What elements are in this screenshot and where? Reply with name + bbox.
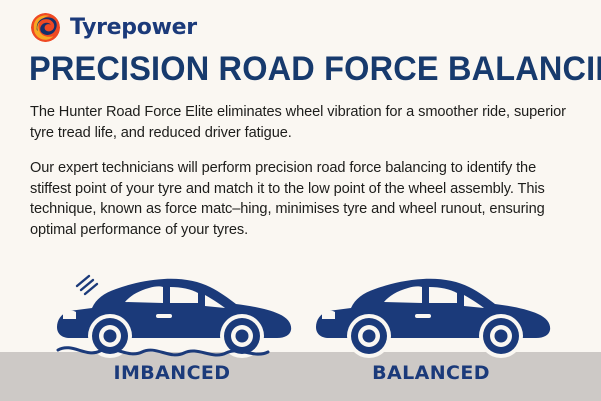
balanced-car-illustration — [307, 262, 555, 362]
door-handle — [415, 314, 431, 318]
detail-paragraph: Our expert technicians will perform prec… — [30, 158, 575, 240]
detail-paragraph-text: Our expert technicians will perform prec… — [30, 158, 575, 240]
poster-canvas: Tyrepower PRECISION ROAD FORCE BALANCING… — [0, 0, 601, 401]
intro-paragraph: The Hunter Road Force Elite eliminates w… — [30, 102, 575, 143]
page-title: PRECISION ROAD FORCE BALANCING — [29, 52, 564, 86]
vibration-lines-icon — [77, 276, 97, 294]
front-wheel — [347, 314, 391, 358]
rear-wheel — [479, 314, 523, 358]
balanced-car-label: BALANCED — [307, 364, 555, 383]
imbalanced-car-label: IMBANCED — [48, 364, 296, 383]
brand-lockup: Tyrepower — [30, 12, 197, 43]
imbalanced-car-illustration — [48, 262, 296, 362]
door-handle — [156, 314, 172, 318]
intro-paragraph-text: The Hunter Road Force Elite eliminates w… — [30, 102, 575, 143]
headlight — [322, 311, 335, 320]
headlight — [63, 311, 76, 320]
tyrepower-swirl-icon — [30, 12, 61, 43]
brand-wordmark: Tyrepower — [70, 17, 197, 39]
